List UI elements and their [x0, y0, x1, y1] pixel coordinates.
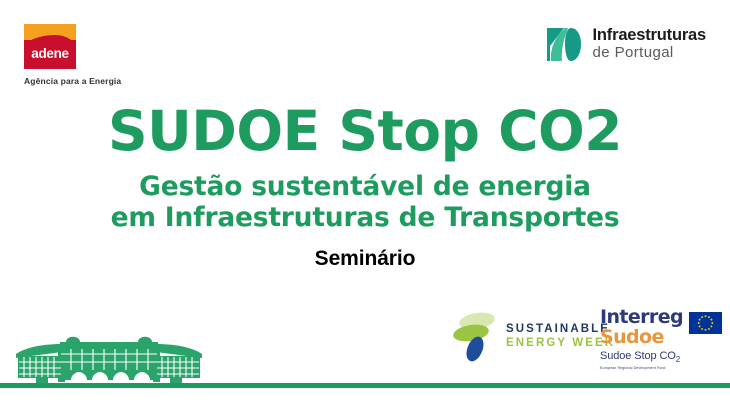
european-union-flag-icon: [689, 312, 722, 334]
adene-tagline: Agência para a Energia: [24, 76, 194, 86]
infraestruturas-line2: de Portugal: [593, 45, 706, 61]
sudoe-label: Sudoe: [600, 328, 683, 347]
interreg-project-subscript: 2: [676, 355, 680, 364]
interreg-project-name: Sudoe Stop CO2: [600, 350, 715, 364]
eu-flag-caption-bar: [689, 334, 722, 338]
headline-block: SUDOE Stop CO2 Gestão sustentável de ene…: [0, 104, 730, 271]
adene-logo: adene Agência para a Energia: [24, 24, 194, 86]
page-title: SUDOE Stop CO2: [0, 104, 730, 159]
adene-wave-shape: [24, 24, 76, 40]
subtitle-line-1: Gestão sustentável de energia: [0, 172, 730, 203]
infraestruturas-de-portugal-logo-mark: [544, 24, 584, 64]
infraestruturas-line1: Infraestruturas: [593, 27, 706, 44]
adene-wordmark: adene: [24, 46, 76, 61]
interreg-fund-text: European Regional Development Fund: [600, 366, 715, 370]
interreg-top-row: Interreg Sudoe: [600, 308, 715, 347]
infraestruturas-wordmark: Infraestruturas de Portugal: [593, 27, 706, 61]
subtitle: Gestão sustentável de energia em Infraes…: [0, 172, 730, 233]
interreg-label: Interreg: [600, 308, 683, 327]
interreg-wordmark: Interreg Sudoe: [600, 308, 683, 347]
interreg-sudoe-logo: Interreg Sudoe: [600, 308, 715, 370]
sustainable-energy-week-logo-mark: [450, 310, 498, 362]
infraestruturas-de-portugal-logo: Infraestruturas de Portugal: [544, 24, 706, 64]
event-type-label: Seminário: [0, 247, 730, 271]
adene-logo-mark: adene: [24, 24, 76, 69]
sew-line-1: SUSTAINABLE: [506, 322, 615, 336]
presentation-slide: adene Agência para a Energia Infraestrut…: [0, 0, 730, 400]
sustainable-energy-week-logo: SUSTAINABLE ENERGY WEEK: [450, 310, 615, 362]
subtitle-line-2: em Infraestruturas de Transportes: [0, 203, 730, 234]
sustainable-energy-week-wordmark: SUSTAINABLE ENERGY WEEK: [506, 322, 615, 351]
sew-line-2: ENERGY WEEK: [506, 336, 615, 350]
ground-line: [0, 383, 730, 388]
interreg-project-text: Sudoe Stop CO: [600, 350, 676, 362]
